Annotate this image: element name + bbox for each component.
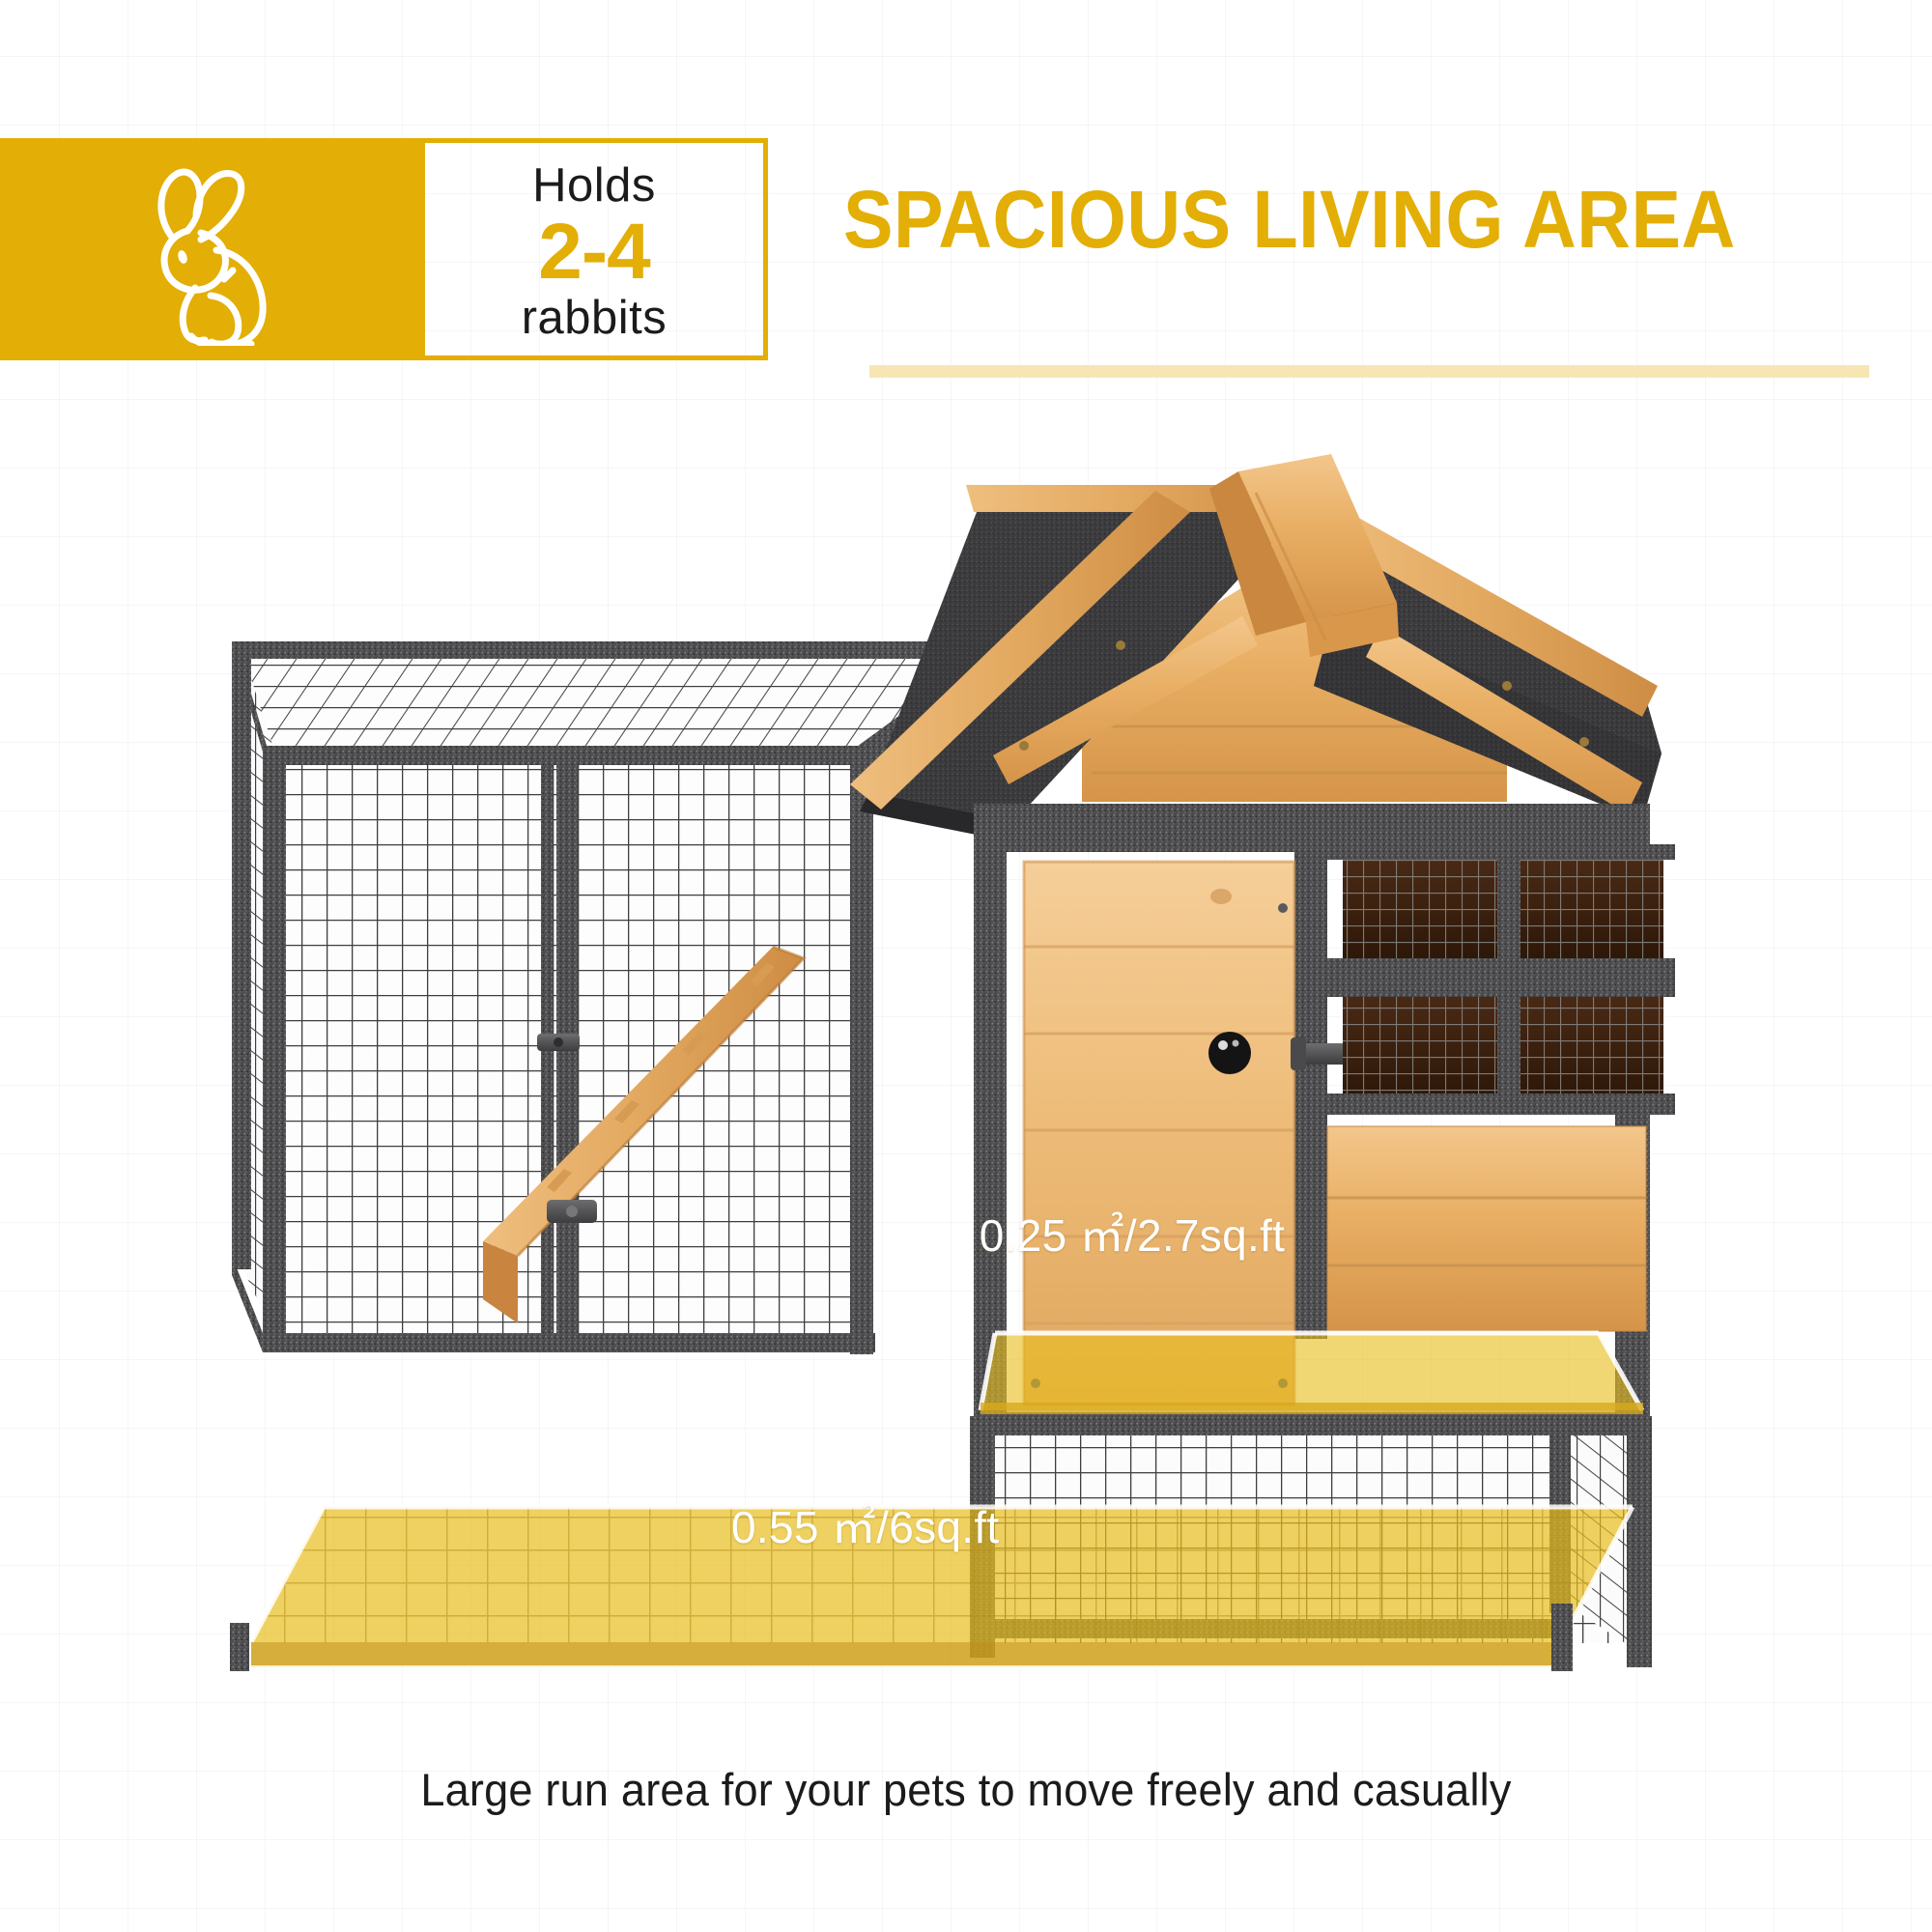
upper-area-label: 0.25 ㎡/2.7sq.ft xyxy=(980,1201,1285,1264)
upper-area-overlay xyxy=(980,1333,1643,1414)
capacity-badge: Holds 2-4 rabbits xyxy=(0,138,768,360)
wooden-side-panel xyxy=(1327,1126,1646,1331)
mesh-windows xyxy=(1327,844,1675,1115)
rabbit-icon xyxy=(116,153,309,346)
page-title: SPACIOUS LIVING AREA xyxy=(843,179,1804,260)
wooden-front-door xyxy=(1024,862,1294,1405)
door-knob-circle xyxy=(1208,1032,1251,1074)
caption-text: Large run area for your pets to move fre… xyxy=(39,1763,1893,1816)
capacity-value: 2-4 xyxy=(538,210,650,296)
badge-icon-block xyxy=(0,138,425,360)
headline-divider xyxy=(869,365,1869,378)
lower-area-label: 0.55 ㎡/6sq.ft xyxy=(731,1492,1000,1556)
holds-label: Holds xyxy=(532,162,656,210)
rabbits-unit-label: rabbits xyxy=(522,295,668,342)
badge-text-block: Holds 2-4 rabbits xyxy=(425,138,768,360)
